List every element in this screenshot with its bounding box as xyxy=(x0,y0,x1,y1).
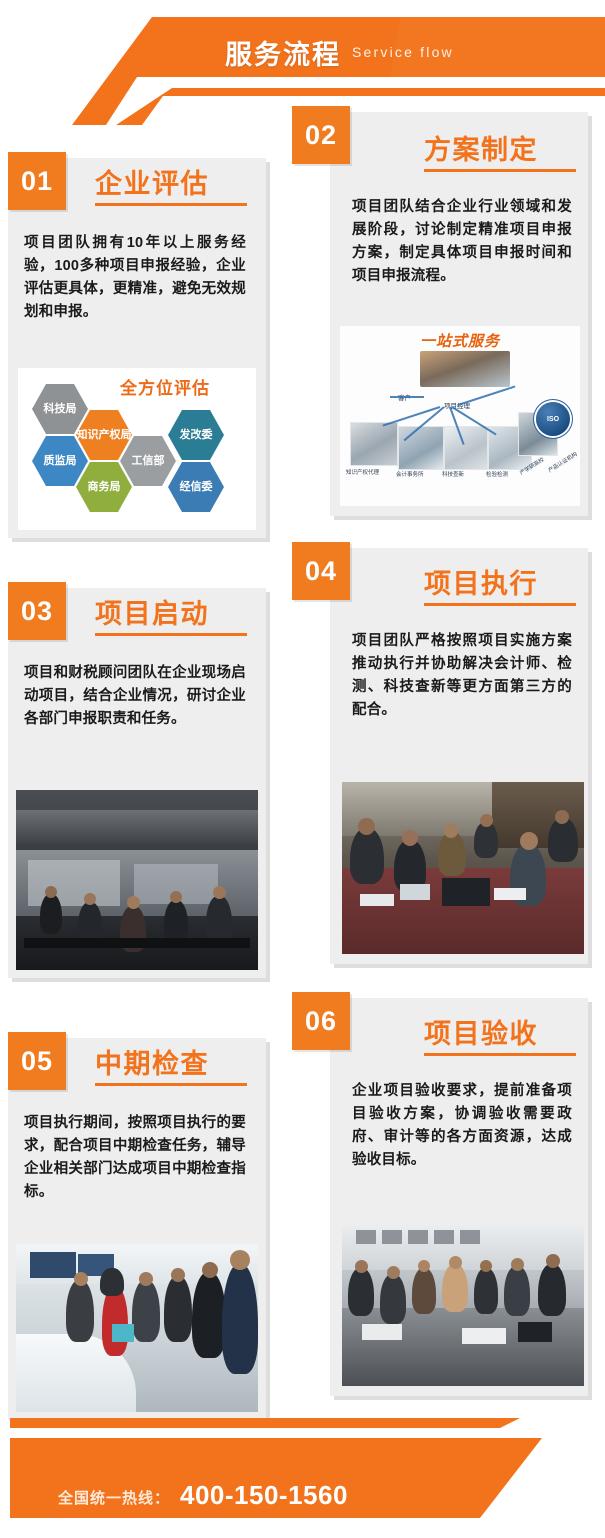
onestop-seal-icon: ISO xyxy=(536,402,570,436)
card-01-hexagon-graphic: 全方位评估 科技局 知识产权局 质监局 商务局 工信部 发改委 经信委 xyxy=(18,368,256,530)
onestop-arrow-0 xyxy=(390,396,424,398)
card-02-title-rule xyxy=(424,169,576,172)
card-05-badge: 05 xyxy=(8,1032,66,1090)
card-06-title-rule xyxy=(424,1053,576,1056)
header-banner: 服务流程 Service flow xyxy=(0,0,605,120)
card-03-title: 项目启动 xyxy=(95,592,209,631)
hexagon-graphic-title: 全方位评估 xyxy=(120,374,210,399)
card-01-body: 项目团队拥有10年以上服务经验，100多种项目申报经验，企业评估更具体，更精准，… xyxy=(24,232,246,324)
card-01-title: 企业评估 xyxy=(95,162,209,201)
photo-scene-training-room xyxy=(342,1224,584,1386)
card-06-badge: 06 xyxy=(292,992,350,1050)
infographic-page: 服务流程 Service flow 01 企业评估 项目团队拥有10年以上服务经… xyxy=(0,0,605,1538)
onestop-caption-2: 科技查新 xyxy=(442,470,464,478)
photo-scene-conference-table xyxy=(342,782,584,954)
onestop-arrow-1 xyxy=(458,386,516,406)
hex-cell-1: 知识产权局 xyxy=(76,410,132,460)
hotline-number[interactable]: 400-150-1560 xyxy=(180,1480,348,1511)
hex-cell-5: 发改委 xyxy=(168,410,224,460)
card-04-badge: 04 xyxy=(292,542,350,600)
onestop-thumb-2 xyxy=(444,426,488,470)
hex-cell-3: 商务局 xyxy=(76,462,132,512)
hex-cell-6: 经信委 xyxy=(168,462,224,512)
onestop-caption-1: 会计事务所 xyxy=(396,470,424,478)
photo-scene-office-meeting xyxy=(16,790,258,970)
card-03-title-rule xyxy=(95,633,247,636)
onestop-thumb-0 xyxy=(350,422,398,466)
card-02-body: 项目团队结合企业行业领域和发展阶段，讨论制定精准项目申报方案，制定具体项目申报时… xyxy=(352,196,572,288)
hotline-label: 全国统一热线： xyxy=(58,1487,170,1508)
card-03-body: 项目和财税顾问团队在企业现场启动项目，结合企业情况，研讨企业各部门申报职责和任务… xyxy=(24,662,246,731)
card-06-photo xyxy=(342,1224,584,1386)
card-05-title: 中期检查 xyxy=(95,1042,209,1081)
card-04-body: 项目团队严格按照项目实施方案推动执行并协助解决会计师、检测、科技查新等更方面第三… xyxy=(352,630,572,722)
onestop-caption-3: 检验检测 xyxy=(486,470,508,478)
hex-cell-4: 工信部 xyxy=(120,436,176,486)
card-02-badge: 02 xyxy=(292,106,350,164)
hex-cell-0: 科技局 xyxy=(32,384,88,434)
card-06-body: 企业项目验收要求，提前准备项目验收方案，协调验收需要政府、审计等的各方面资源，达… xyxy=(352,1080,572,1172)
card-05-photo xyxy=(16,1244,258,1412)
card-04-title: 项目执行 xyxy=(424,562,538,601)
page-subtitle: Service flow xyxy=(352,44,454,60)
onestop-title: 一站式服务 xyxy=(420,330,500,351)
card-01-title-rule xyxy=(95,203,247,206)
photo-scene-showroom-visit xyxy=(16,1244,258,1412)
footer-shape xyxy=(0,1418,605,1538)
card-03-badge: 03 xyxy=(8,582,66,640)
card-05-title-rule xyxy=(95,1083,247,1086)
onestop-caption-0: 知识产权代理 xyxy=(346,468,379,476)
onestop-thumb-1 xyxy=(398,426,444,470)
onestop-hero-photo xyxy=(420,351,510,387)
card-04-photo xyxy=(342,782,584,954)
card-02-title: 方案制定 xyxy=(424,128,538,167)
card-04-title-rule xyxy=(424,603,576,606)
card-01-badge: 01 xyxy=(8,152,66,210)
hex-cell-2: 质监局 xyxy=(32,436,88,486)
card-02-onestop-graphic: 一站式服务 客户 项目经理 ISO 知识产权代理 会计事务所 科技查新 检验检测… xyxy=(340,326,580,506)
card-05-body: 项目执行期间，按照项目执行的要求，配合项目中期检查任务，辅导企业相关部门达成项目… xyxy=(24,1112,246,1204)
page-title: 服务流程 xyxy=(225,33,341,72)
card-03-photo xyxy=(16,790,258,970)
card-06-title: 项目验收 xyxy=(424,1012,538,1051)
